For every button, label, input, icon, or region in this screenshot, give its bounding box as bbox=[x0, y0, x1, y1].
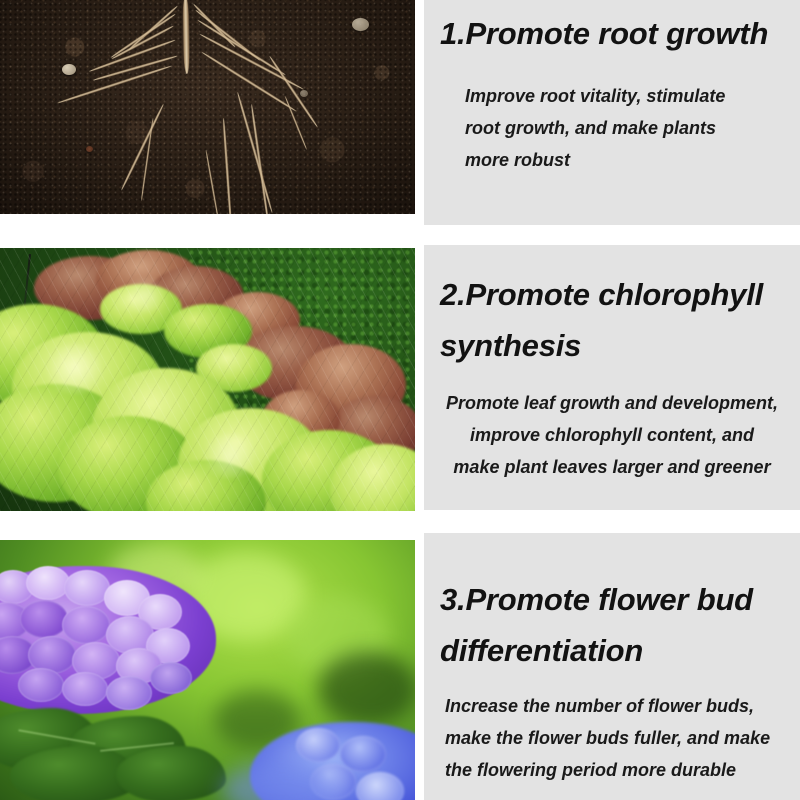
hydrangea-floret bbox=[106, 676, 152, 710]
hydrangea-floret bbox=[20, 600, 68, 638]
hydrangea-floret bbox=[62, 672, 108, 706]
panel-1-heading: 1.Promote root growth bbox=[440, 8, 768, 59]
hydrangea-floret bbox=[62, 606, 110, 644]
hydrangea-floret bbox=[26, 566, 70, 600]
hydrangea-floret bbox=[296, 728, 340, 762]
hydrangea-leaf bbox=[116, 746, 226, 800]
benefit-text-3: 3.Promote flower bud differentiation Inc… bbox=[424, 533, 800, 800]
benefit-text-2: 2.Promote chlorophyll synthesis Promote … bbox=[424, 245, 800, 510]
roots-in-soil-photo bbox=[0, 0, 415, 214]
hydrangea-floret bbox=[64, 570, 110, 606]
sun-highlight bbox=[40, 344, 110, 394]
hydrangea-floret bbox=[150, 662, 192, 694]
pebble bbox=[86, 146, 93, 152]
panel-2-body: Promote leaf growth and development, imp… bbox=[424, 387, 800, 483]
sun-highlight bbox=[120, 278, 172, 312]
infographic-board: 1.Promote root growth Improve root vital… bbox=[0, 0, 800, 800]
benefit-text-1: 1.Promote root growth Improve root vital… bbox=[424, 0, 800, 225]
hydrangea-floret bbox=[18, 668, 64, 702]
bokeh-shadow bbox=[318, 652, 415, 726]
pebble bbox=[300, 90, 308, 97]
benefit-panel-2: 2.Promote chlorophyll synthesis Promote … bbox=[0, 245, 800, 510]
lettuce-bed-photo bbox=[0, 248, 415, 511]
panel-3-body: Increase the number of flower buds, make… bbox=[445, 690, 770, 786]
pebble bbox=[62, 64, 76, 75]
pebble bbox=[352, 18, 369, 31]
benefit-panel-1: 1.Promote root growth Improve root vital… bbox=[0, 0, 800, 225]
hydrangea-floret bbox=[340, 736, 386, 772]
soil-grain-texture bbox=[0, 0, 415, 214]
hydrangea-bloom-photo bbox=[0, 540, 415, 800]
benefit-panel-3: 3.Promote flower bud differentiation Inc… bbox=[0, 533, 800, 800]
panel-1-body: Improve root vitality, stimulate root gr… bbox=[465, 80, 725, 176]
panel-2-heading: 2.Promote chlorophyll synthesis bbox=[440, 269, 763, 371]
panel-3-heading: 3.Promote flower bud differentiation bbox=[440, 574, 753, 676]
sun-highlight bbox=[198, 434, 262, 478]
